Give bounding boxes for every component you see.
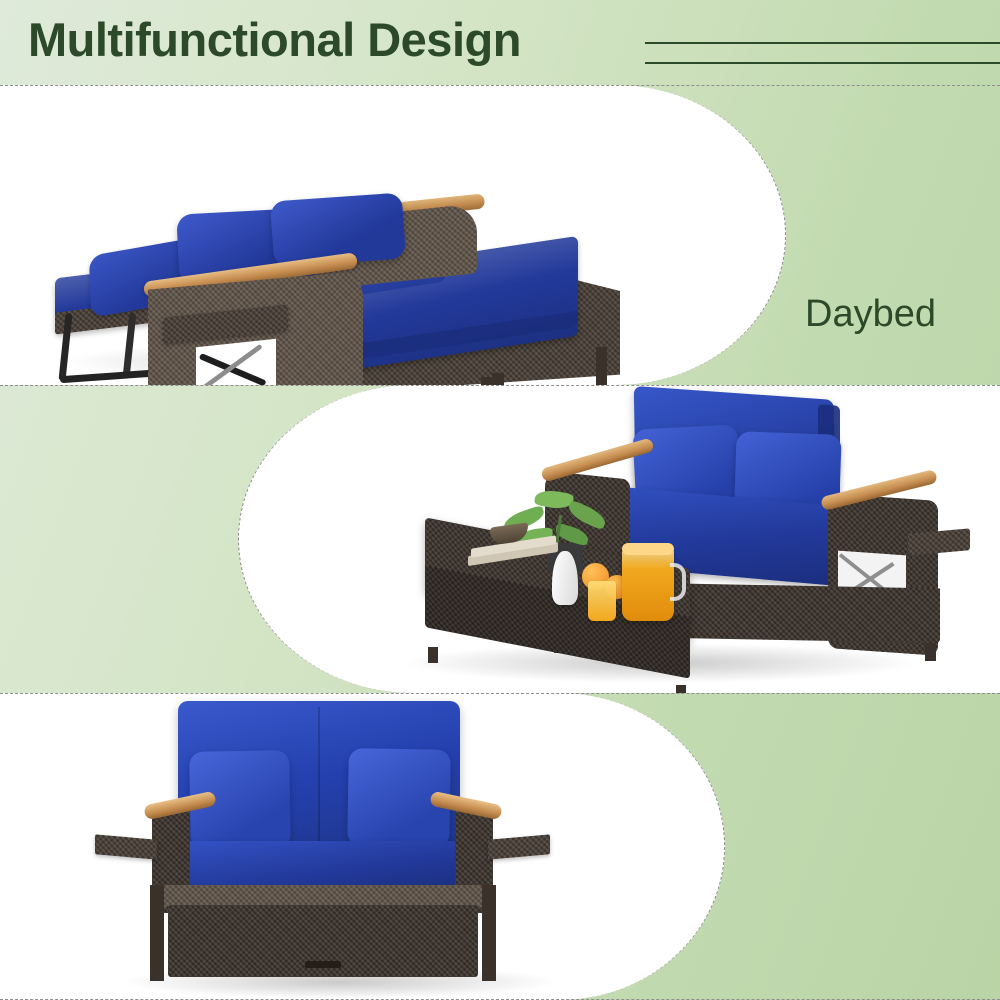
drawer-handle	[305, 961, 341, 968]
coffee-table-leg-right	[676, 685, 686, 693]
base-leg-right	[482, 885, 496, 981]
page-title: Multifunctional Design	[28, 13, 521, 67]
seat-cushion	[165, 841, 480, 889]
header-rule-bottom	[645, 62, 1000, 64]
arm-left-wood	[540, 447, 655, 477]
panel-1-label: Daybed	[805, 290, 936, 339]
far-leg-far	[596, 347, 607, 385]
panel-cushioned-loveseat: Cushioned Loveseat	[0, 693, 1000, 1000]
far-leg-outer	[492, 373, 504, 385]
arm-left-wood	[144, 793, 216, 819]
white-vase	[552, 551, 578, 605]
juice-glass	[588, 581, 616, 621]
divider-header-panel1	[0, 85, 1000, 86]
infographic-root: Multifunctional Design	[0, 0, 1000, 1000]
divider-panel2-panel3	[0, 693, 1000, 694]
panel-daybed: Daybed	[0, 85, 1000, 385]
arm-right-wood	[430, 793, 502, 819]
divider-panel1-panel2	[0, 385, 1000, 386]
base-leg-left	[150, 885, 164, 981]
juice-pitcher	[622, 533, 680, 621]
base-top-rail	[158, 885, 488, 907]
far-leg-right	[479, 377, 493, 385]
panel-loveseat-coffee-table: Loveseat & Coffee Table Set	[0, 385, 1000, 693]
header-rule-top	[645, 42, 1000, 44]
loveseat-leg-right	[925, 643, 936, 661]
arm-right-wood	[820, 477, 938, 507]
frame-cutout-window	[196, 339, 276, 385]
coffee-table-leg-left	[428, 647, 438, 663]
header: Multifunctional Design	[0, 0, 1000, 85]
